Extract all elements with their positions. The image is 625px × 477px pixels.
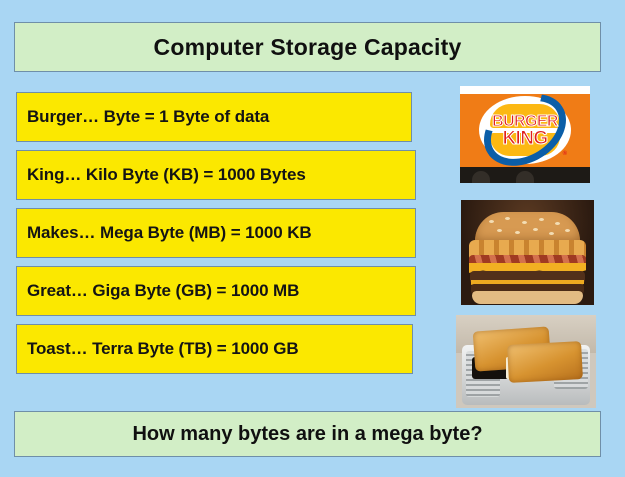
list-item-label: Burger… Byte = 1 Byte of data	[27, 107, 269, 127]
list-item-label: Makes… Mega Byte (MB) = 1000 KB	[27, 223, 312, 243]
emblem-word-king: KING	[479, 129, 571, 148]
toast-in-toaster-photo	[456, 315, 596, 408]
list-item: Great… Giga Byte (GB) = 1000 MB	[16, 266, 416, 316]
list-item: King… Kilo Byte (KB) = 1000 Bytes	[16, 150, 416, 200]
page-title: Computer Storage Capacity	[154, 34, 462, 61]
list-item: Toast… Terra Byte (TB) = 1000 GB	[16, 324, 413, 374]
logo-bottom-band	[460, 167, 590, 183]
question-text: How many bytes are in a mega byte?	[132, 423, 482, 446]
burger-king-emblem: BURGER KING ®	[479, 96, 571, 164]
burger-bun-bottom	[472, 291, 583, 304]
storage-unit-list: Burger… Byte = 1 Byte of data King… Kilo…	[16, 92, 416, 382]
list-item-label: Great… Giga Byte (GB) = 1000 MB	[27, 281, 299, 301]
cheeseburger-photo	[461, 200, 594, 305]
list-item: Makes… Mega Byte (MB) = 1000 KB	[16, 208, 416, 258]
question-banner: How many bytes are in a mega byte?	[14, 411, 601, 457]
burger-king-logo-image: BURGER KING ®	[460, 86, 590, 183]
toast-slice-front	[507, 341, 583, 383]
list-item: Burger… Byte = 1 Byte of data	[16, 92, 412, 142]
slide-canvas: Computer Storage Capacity Burger… Byte =…	[0, 0, 625, 477]
list-item-label: Toast… Terra Byte (TB) = 1000 GB	[27, 339, 299, 359]
list-item-label: King… Kilo Byte (KB) = 1000 Bytes	[27, 165, 306, 185]
slide-title-banner: Computer Storage Capacity	[14, 22, 601, 72]
registered-trademark-icon: ®	[563, 151, 567, 157]
